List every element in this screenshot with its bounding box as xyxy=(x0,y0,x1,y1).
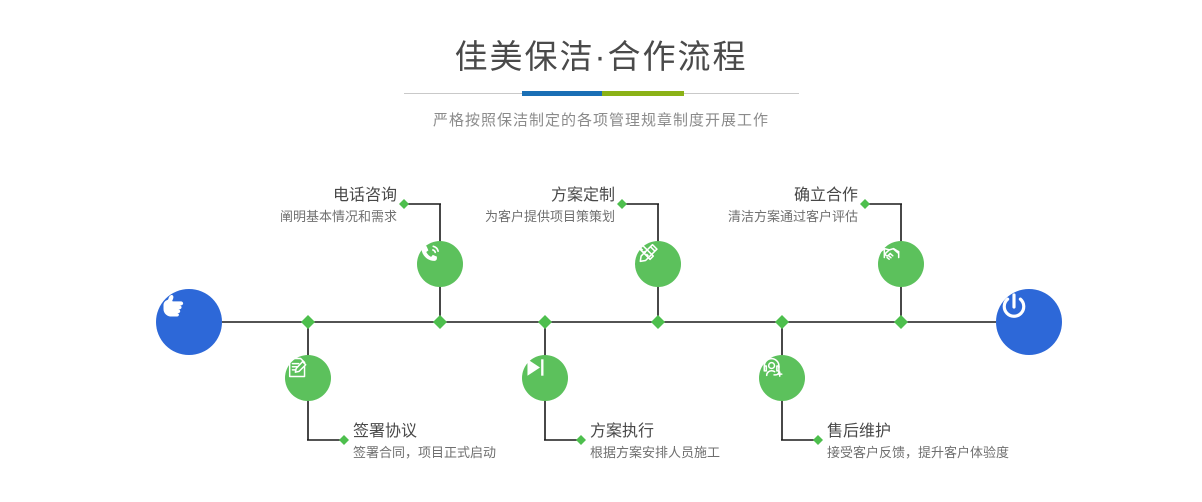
node-icon-establish-cooperation[interactable] xyxy=(878,241,924,287)
step-desc: 为客户提供项目策策划 xyxy=(353,206,615,228)
node-icon-plan-customization[interactable] xyxy=(635,241,681,287)
node-icon-phone-consult[interactable] xyxy=(417,241,463,287)
step-caption-after-sales: 售后维护 接受客户反馈，提升客户体验度 xyxy=(827,422,1099,464)
node-icon-after-sales[interactable] xyxy=(759,355,805,401)
step-caption-establish-cooperation: 确立合作 清洁方案通过客户评估 xyxy=(586,186,858,228)
process-flow-diagram: 电话咨询 阐明基本情况和需求 方案定制 为客户提供项目策策划 确立合作 清洁方案… xyxy=(0,0,1202,502)
diamond-marker xyxy=(894,315,908,329)
step-title: 方案定制 xyxy=(353,186,615,206)
step-desc: 接受客户反馈，提升客户体验度 xyxy=(827,442,1099,464)
step-title: 售后维护 xyxy=(827,422,1099,442)
step-title: 签署协议 xyxy=(353,422,615,442)
diamond-marker xyxy=(538,315,552,329)
step-desc: 根据方案安排人员施工 xyxy=(590,442,852,464)
step-title: 确立合作 xyxy=(586,186,858,206)
diamond-marker xyxy=(339,435,349,445)
diamond-marker xyxy=(433,315,447,329)
node-icon-plan-execution[interactable] xyxy=(522,355,568,401)
step-desc: 签署合同，项目正式启动 xyxy=(353,442,615,464)
step-title: 方案执行 xyxy=(590,422,852,442)
step-caption-plan-execution: 方案执行 根据方案安排人员施工 xyxy=(590,422,852,464)
step-desc: 清洁方案通过客户评估 xyxy=(586,206,858,228)
diamond-marker xyxy=(651,315,665,329)
step-caption-plan-customization: 方案定制 为客户提供项目策策划 xyxy=(353,186,615,228)
node-icon-sign-agreement[interactable] xyxy=(285,355,331,401)
step-caption-sign-agreement: 签署协议 签署合同，项目正式启动 xyxy=(353,422,615,464)
diamond-marker xyxy=(860,199,870,209)
flow-start-node[interactable] xyxy=(156,289,222,355)
flow-infographic-page: 佳美保洁·合作流程 严格按照保洁制定的各项管理规章制度开展工作 xyxy=(0,0,1202,502)
diamond-marker xyxy=(775,315,789,329)
flow-end-node[interactable] xyxy=(996,289,1062,355)
diamond-marker xyxy=(301,315,315,329)
